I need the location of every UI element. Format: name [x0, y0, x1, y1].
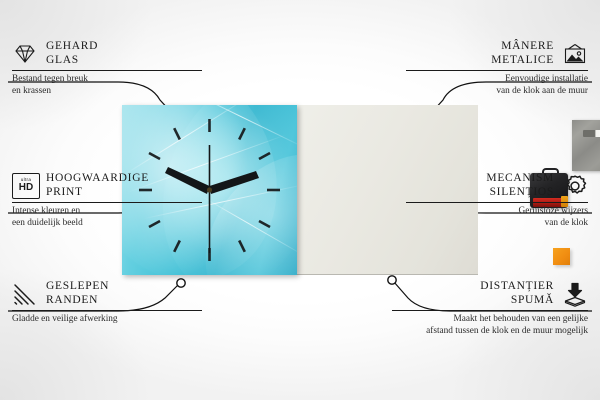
hands-hub: [207, 187, 212, 192]
feature-title: GESLEPEN RANDEN: [46, 280, 109, 307]
feature-title: DISTANȚIER SPUMĂ: [480, 280, 554, 307]
feature-gehard-glas: GEHARD GLAS Bestand tegen breuk en krass…: [12, 40, 202, 98]
feature-description: Geruisloze wijzers van de klok: [406, 206, 588, 230]
feature-divider: [12, 202, 202, 203]
hour-mark-11: [174, 128, 180, 139]
feature-divider: [12, 70, 202, 71]
feature-header: DISTANȚIER SPUMĂ: [392, 280, 588, 307]
minute-hand: [210, 171, 260, 194]
feature-title: GEHARD GLAS: [46, 40, 98, 67]
feature-distantier-spuma: DISTANȚIER SPUMĂ Maakt het behouden van …: [392, 280, 588, 338]
feature-description: Eenvoudige installatie van de klok aan d…: [406, 74, 588, 98]
diamond-icon: [12, 41, 38, 67]
feature-mecanism-silentios: MECANISM SILENȚIOS Geruisloze wijzers va…: [406, 172, 588, 230]
feature-divider: [392, 310, 588, 311]
feature-header: GEHARD GLAS: [12, 40, 202, 67]
picture-frame-icon: [562, 41, 588, 67]
metal-hanger-plate: [572, 120, 600, 171]
feature-manere-metalice: MÂNERE METALICE Eenvoudige installatie v…: [406, 40, 588, 98]
feature-title: HOOGWAARDIGE PRINT: [46, 172, 149, 199]
feature-header: MECANISM SILENȚIOS: [406, 172, 588, 199]
feature-description: Intense kleuren en een duidelijk beeld: [12, 206, 202, 230]
feature-description: Gladde en veilige afwerking: [12, 314, 202, 326]
feature-hoogwaardige-print: ultra HD HOOGWAARDIGE PRINT Intense kleu…: [12, 172, 202, 230]
feature-title: MÂNERE METALICE: [491, 40, 554, 67]
hanger-keyhole-slot: [583, 130, 600, 137]
gear-icon: [562, 173, 588, 199]
hour-mark-5: [239, 241, 245, 252]
feature-header: GESLEPEN RANDEN: [12, 280, 202, 307]
beveled-edges-icon: [12, 281, 38, 307]
hour-mark-10: [149, 153, 160, 159]
feature-geslepen-randen: GESLEPEN RANDEN Gladde en veilige afwerk…: [12, 280, 202, 326]
foam-spacer: [553, 248, 570, 265]
feature-header: ultra HD HOOGWAARDIGE PRINT: [12, 172, 202, 199]
feature-divider: [406, 202, 588, 203]
feature-divider: [406, 70, 588, 71]
hour-mark-2: [259, 153, 270, 159]
feature-description: Maakt het behouden van een gelijke afsta…: [392, 314, 588, 338]
ultra-hd-label: HD: [19, 183, 33, 193]
feature-description: Bestand tegen breuk en krassen: [12, 74, 202, 98]
hour-mark-1: [239, 128, 245, 139]
hour-mark-7: [174, 241, 180, 252]
feature-divider: [12, 310, 202, 311]
hour-mark-4: [259, 221, 270, 227]
ultra-hd-icon: ultra HD: [12, 173, 38, 199]
feature-title: MECANISM SILENȚIOS: [486, 172, 554, 199]
infographic-canvas: GEHARD GLAS Bestand tegen breuk en krass…: [0, 0, 600, 400]
spacer-arrow-icon: [562, 281, 588, 307]
feature-header: MÂNERE METALICE: [406, 40, 588, 67]
